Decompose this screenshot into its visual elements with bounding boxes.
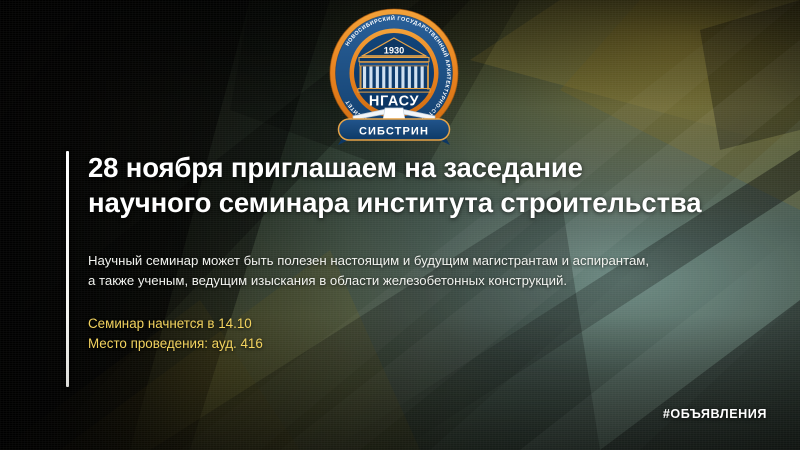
title-line-1: 28 ноября приглашаем на заседание xyxy=(88,152,583,183)
university-logo: НОВОСИБИРСКИЙ ГОСУДАРСТВЕННЫЙ АРХИТЕКТУР… xyxy=(323,2,478,150)
page-title: 28 ноября приглашаем на заседаниенаучног… xyxy=(88,150,774,220)
detail-start-time: Семинар начнется в 14.10 xyxy=(88,314,778,334)
logo-ribbon-text: СИБСТРИН xyxy=(359,126,429,138)
logo-abbreviation: НГАСУ xyxy=(369,94,420,110)
event-details: Семинар начнется в 14.10Место проведения… xyxy=(88,314,778,355)
announcement-slide: НОВОСИБИРСКИЙ ГОСУДАРСТВЕННЫЙ АРХИТЕКТУР… xyxy=(0,0,800,450)
left-accent-bar xyxy=(66,151,69,387)
body-line-1: Научный семинар может быть полезен насто… xyxy=(88,251,760,271)
logo-year: 1930 xyxy=(384,46,404,56)
detail-location: Место проведения: ауд. 416 xyxy=(88,334,778,354)
body-line-2: а также ученым, ведущим изыскания в обла… xyxy=(88,271,760,291)
hashtag-label: #ОБЪЯВЛЕНИЯ xyxy=(663,407,767,421)
body-text: Научный семинар может быть полезен насто… xyxy=(88,251,760,291)
title-line-2: научного семинара института строительств… xyxy=(88,185,774,220)
content-block: 28 ноября приглашаем на заседаниенаучног… xyxy=(88,150,778,354)
logo-ribbon: СИБСТРИН xyxy=(338,118,450,145)
